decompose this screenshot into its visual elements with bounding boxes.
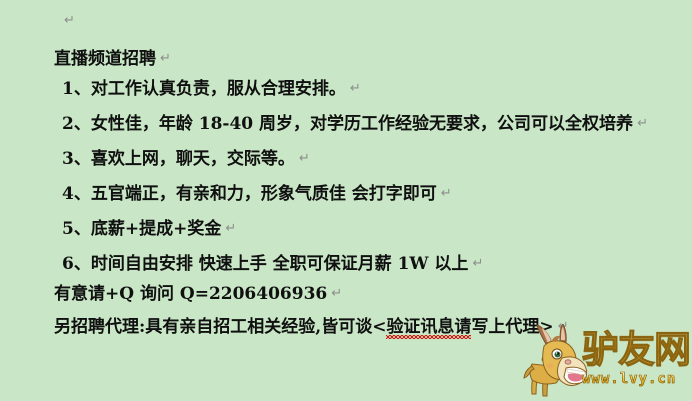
paragraph-mark-icon: ↵: [637, 117, 648, 130]
list-item: 6、时间自由安排 快速上手 全职可保证月薪 1W 以上↵: [62, 249, 483, 274]
list-item-number: 1、: [62, 79, 91, 99]
list-item: 5、底薪+提成+奖金↵: [62, 214, 236, 239]
paragraph-mark-icon: ↵: [299, 152, 310, 165]
list-item-text: 女性佳，年龄 18-40 周岁，对学历工作经验无要求，公司可以全权培养: [91, 114, 633, 134]
list-item-text: 五官端正，有亲和力，形象气质佳 会打字即可: [91, 184, 437, 204]
paragraph-mark-icon: ↵: [472, 257, 483, 270]
watermark-logo: 驴友网 www.lvy.cn: [520, 322, 692, 401]
paragraph-mark-icon: ↵: [160, 52, 171, 65]
document-title: 直播频道招聘↵: [54, 44, 171, 69]
brand-name-cn: 驴友网: [582, 330, 690, 370]
screenshot-canvas: ↵ 直播频道招聘↵ 1、对工作认真负责，服从合理安排。↵ 2、女性佳，年龄 18…: [0, 0, 692, 401]
list-item: 2、女性佳，年龄 18-40 周岁，对学历工作经验无要求，公司可以全权培养↵: [62, 109, 648, 134]
contact-line: 有意请+Q 询问 Q=2206406936↵: [54, 279, 342, 304]
brand-url: www.lvy.cn: [582, 371, 676, 387]
watermark-text-group: 驴友网 www.lvy.cn: [582, 330, 692, 400]
list-item: 4、五官端正，有亲和力，形象气质佳 会打字即可↵: [62, 179, 452, 204]
list-item: 3、喜欢上网，聊天，交际等。↵: [62, 144, 310, 169]
list-item-number: 5、: [62, 219, 91, 239]
list-item-text: 对工作认真负责，服从合理安排。: [91, 79, 346, 99]
agent-recruit-line: 另招聘代理:具有亲自招工相关经验,皆可谈<验证讯息请写上代理>↵: [54, 312, 569, 337]
list-item-text: 时间自由安排 快速上手 全职可保证月薪 1W 以上: [91, 254, 469, 274]
list-item: 1、对工作认真负责，服从合理安排。↵: [62, 74, 361, 99]
paragraph-mark-icon: ↵: [331, 287, 342, 300]
paragraph-mark-icon: ↵: [350, 82, 361, 95]
paragraph-mark-icon: ↵: [441, 187, 452, 200]
contact-qq-text: 有意请+Q 询问 Q=2206406936: [54, 284, 327, 304]
paragraph-mark-icon: ↵: [64, 14, 75, 27]
list-item-number: 2、: [62, 114, 91, 134]
list-item-text: 底薪+提成+奖金: [91, 219, 222, 239]
paragraph-mark-icon: ↵: [225, 222, 236, 235]
list-item-text: 喜欢上网，聊天，交际等。: [91, 149, 295, 169]
list-item-number: 3、: [62, 149, 91, 169]
document-title-text: 直播频道招聘: [54, 49, 156, 69]
list-item-number: 6、: [62, 254, 91, 274]
list-item-number: 4、: [62, 184, 91, 204]
spellcheck-misspelled-text: 验证讯息请: [386, 312, 471, 337]
agent-recruit-prefix: 另招聘代理:具有亲自招工相关经验,皆可谈<: [54, 317, 386, 337]
